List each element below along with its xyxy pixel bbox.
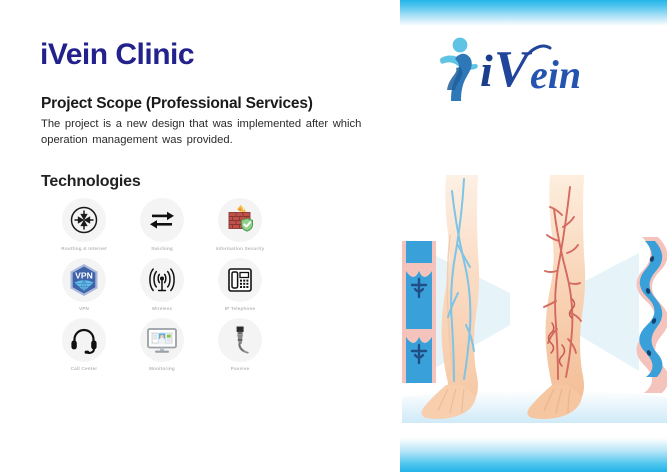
- svg-text:i: i: [480, 45, 493, 96]
- tech-label: Routting & Internet: [61, 246, 106, 251]
- healthy-vein-panel: [402, 241, 436, 383]
- desk-phone-icon: [218, 258, 262, 302]
- tech-item-switching[interactable]: Swiching: [124, 198, 200, 251]
- monitor-dashboard-icon: [140, 318, 184, 362]
- tech-label: Wireless: [152, 306, 172, 311]
- leaping-person-mark: [440, 38, 478, 101]
- vpn-hexagon-icon: VPN: [62, 258, 106, 302]
- tech-item-passive[interactable]: Passive: [202, 318, 278, 371]
- ivein-logo: i V ein: [418, 30, 648, 102]
- svg-text:ein: ein: [530, 52, 581, 97]
- tech-item-wireless[interactable]: Wireless: [124, 258, 200, 311]
- tech-item-call-center[interactable]: Call Center: [46, 318, 122, 371]
- project-scope-heading: Project Scope (Professional Services): [41, 95, 313, 113]
- router-icon: [62, 198, 106, 242]
- left-content-panel: iVein Clinic Project Scope (Professional…: [0, 0, 400, 472]
- technologies-grid: Routting & Internet Swich: [46, 198, 296, 378]
- headset-icon: [62, 318, 106, 362]
- legs-illustration: [402, 175, 667, 423]
- switch-arrows-icon: [140, 198, 184, 242]
- tech-item-information-security[interactable]: Information Security: [202, 198, 278, 251]
- tech-label: Swiching: [151, 246, 173, 251]
- tech-label: IP Telephone: [225, 306, 256, 311]
- tech-label: Call Center: [71, 366, 97, 371]
- technologies-heading: Technologies: [41, 173, 141, 191]
- varicose-vein-panel: [636, 237, 667, 393]
- technologies-row: Routting & Internet Swich: [46, 198, 296, 258]
- technologies-row: VPN VPN: [46, 258, 296, 318]
- technologies-row: Call Center: [46, 318, 296, 378]
- tech-label: VPN: [79, 306, 89, 311]
- tech-label: Monitoring: [149, 366, 175, 371]
- slide-canvas: iVein Clinic Project Scope (Professional…: [0, 0, 667, 472]
- tech-item-monitoring[interactable]: Monitoring: [124, 318, 200, 371]
- firewall-shield-icon: [218, 198, 262, 242]
- svg-text:V: V: [494, 41, 533, 98]
- top-gradient-bar: [400, 0, 667, 26]
- tech-label: Passive: [231, 366, 250, 371]
- svg-text:VPN: VPN: [75, 271, 93, 281]
- logo-wordmark: i V ein: [480, 41, 581, 98]
- bottom-gradient-bar: [400, 438, 667, 472]
- right-illustration-panel: i V ein: [400, 0, 667, 472]
- tech-item-ip-telephone[interactable]: IP Telephone: [202, 258, 278, 311]
- tech-item-vpn[interactable]: VPN VPN: [46, 258, 122, 311]
- tech-item-routing[interactable]: Routting & Internet: [46, 198, 122, 251]
- varicose-leg: [527, 175, 585, 419]
- tech-label: Information Security: [216, 246, 265, 251]
- project-scope-body: The project is a new design that was imp…: [41, 117, 366, 149]
- wireless-signal-icon: [140, 258, 184, 302]
- cable-connector-icon: [218, 318, 262, 362]
- page-title: iVein Clinic: [40, 38, 194, 71]
